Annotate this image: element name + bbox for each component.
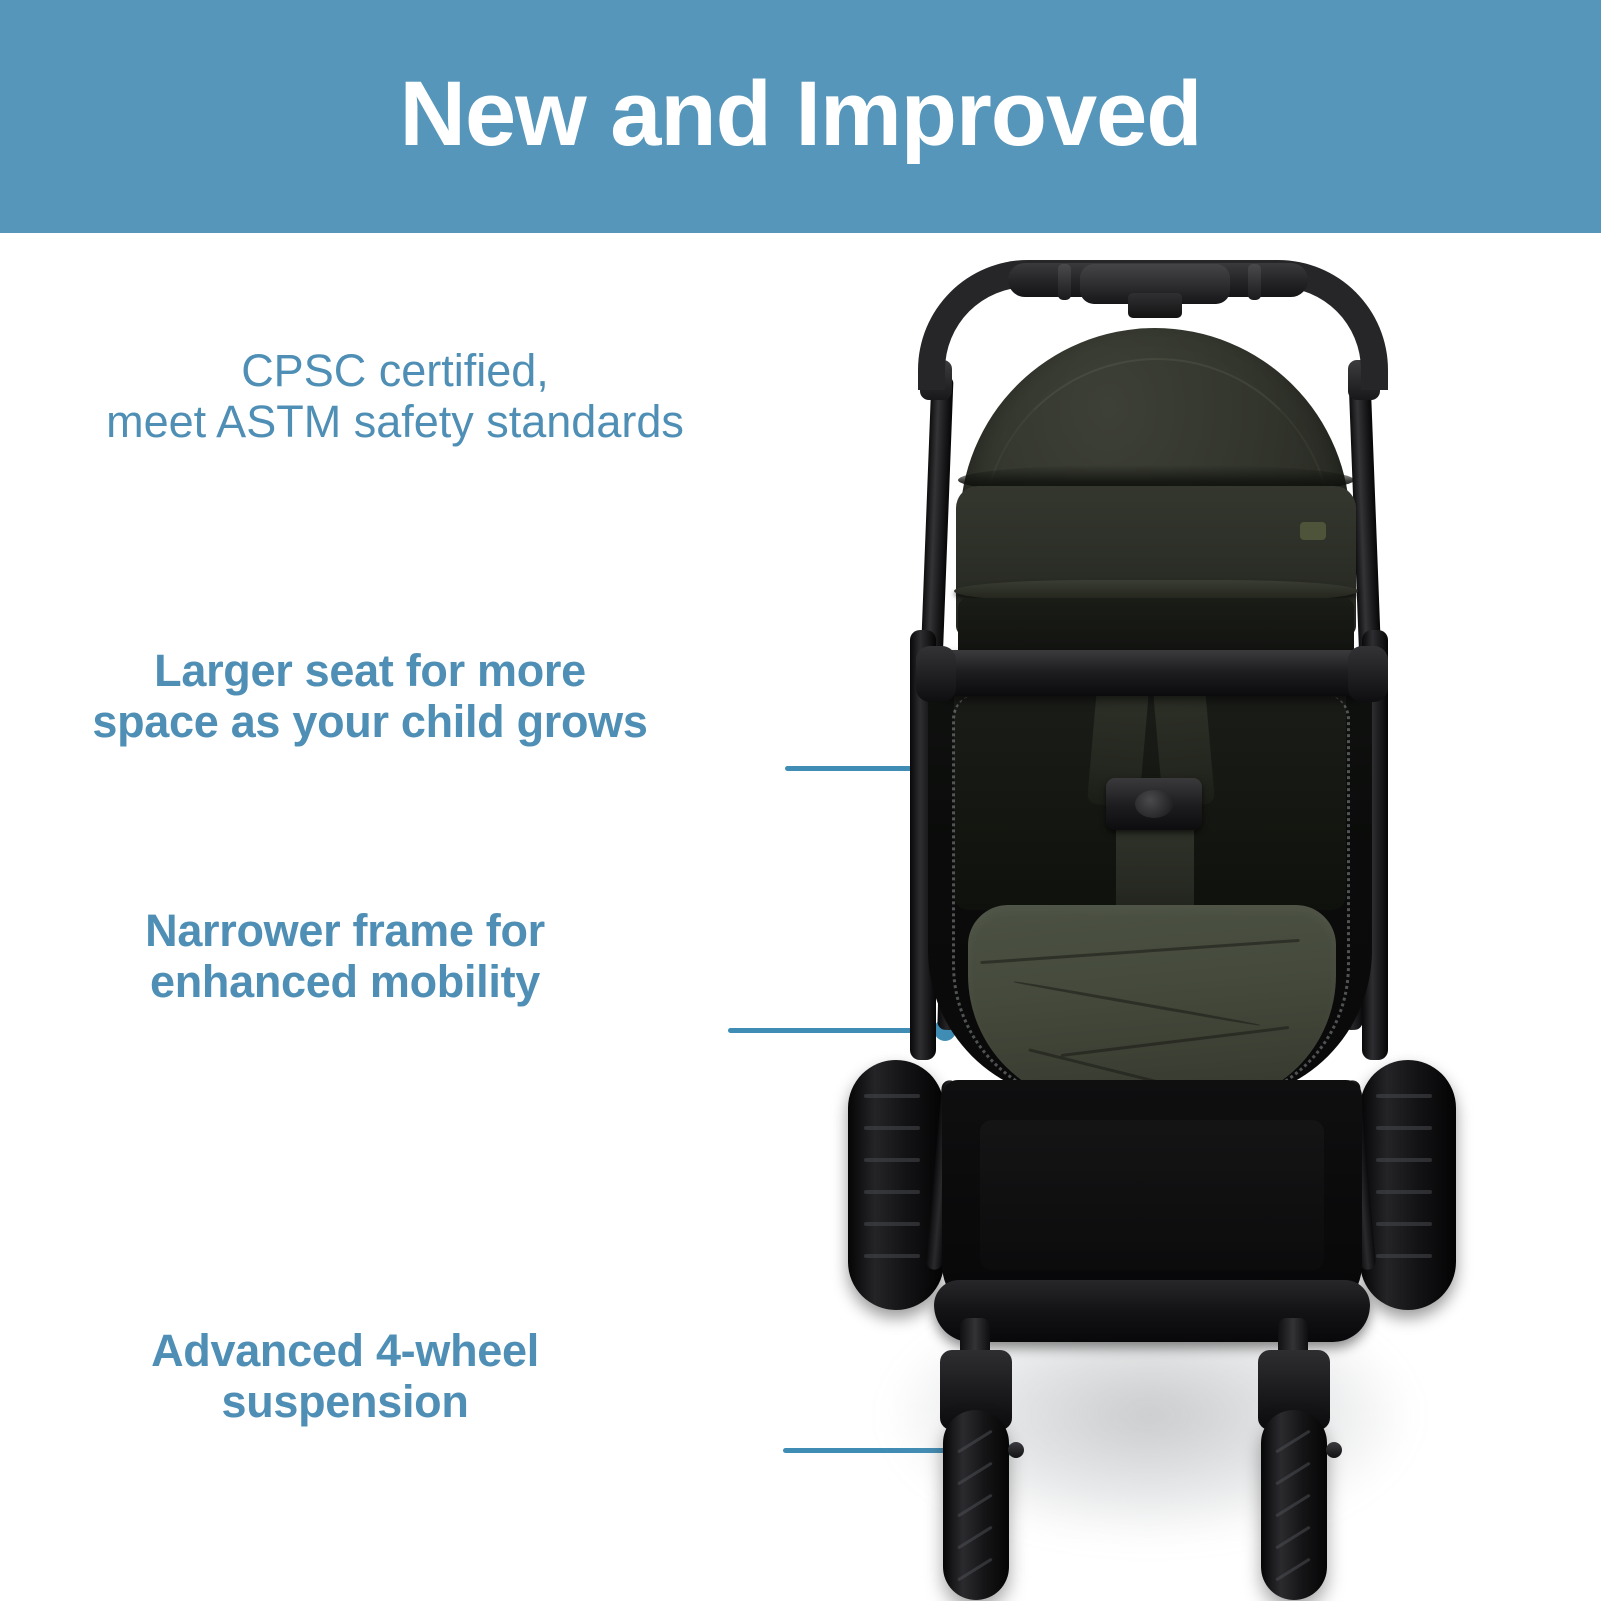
handlebar-ring-right [1248, 264, 1261, 300]
frame-post-left [920, 376, 953, 667]
handlebar-clip [1128, 293, 1182, 318]
bumper-bar-cap-right [1348, 646, 1388, 702]
bumper-bar-cap-left [916, 646, 956, 702]
stroller-product-image [830, 250, 1470, 1590]
storage-basket-interior [980, 1120, 1324, 1270]
feature-text-suspension: Advanced 4-wheel suspension [0, 1325, 690, 1428]
front-caster-wheel-left [943, 1410, 1009, 1600]
front-caster-pin-left [1008, 1442, 1024, 1458]
rear-wheel-left [848, 1060, 944, 1310]
front-caster-pin-right [1326, 1442, 1342, 1458]
canopy-brand-tag [1300, 522, 1326, 540]
feature-text-larger-seat: Larger seat for more space as your child… [0, 645, 740, 748]
rear-wheel-right [1360, 1060, 1456, 1310]
header-banner: New and Improved [0, 0, 1601, 233]
bumper-bar [926, 650, 1374, 696]
feature-text-cpsc: CPSC certified, meet ASTM safety standar… [0, 345, 790, 448]
front-caster-wheel-right [1261, 1410, 1327, 1600]
infographic-page: New and Improved CPSC certified, meet AS… [0, 0, 1601, 1601]
page-title: New and Improved [400, 68, 1202, 160]
feature-text-narrower-frame: Narrower frame for enhanced mobility [0, 905, 690, 1008]
seat-zipper [952, 695, 1350, 1105]
handlebar-ring-left [1058, 264, 1071, 300]
